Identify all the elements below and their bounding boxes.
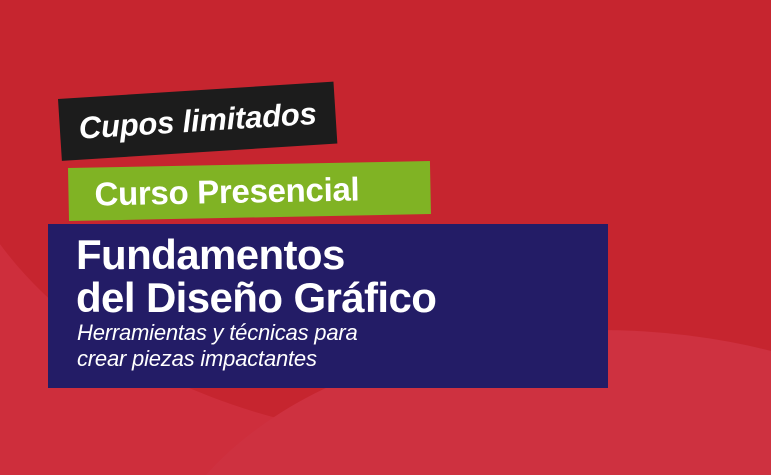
course-format-label: Curso Presencial [68, 170, 360, 214]
course-title: Fundamentos del Diseño Gráfico [76, 233, 436, 320]
promo-poster: Cupos limitados Curso Presencial Fundame… [0, 0, 771, 475]
course-title-line-2: del Diseño Gráfico [76, 276, 436, 319]
course-title-line-1: Fundamentos [76, 233, 436, 276]
course-subtitle-line-2: crear piezas impactantes [77, 346, 358, 372]
course-info-panel: Fundamentos del Diseño Gráfico Herramien… [48, 224, 608, 388]
limited-seats-label: Cupos limitados [56, 94, 340, 148]
course-subtitle-line-1: Herramientas y técnicas para [77, 320, 358, 346]
course-subtitle: Herramientas y técnicas para crear pieza… [77, 320, 358, 371]
course-format-badge: Curso Presencial [68, 161, 431, 221]
